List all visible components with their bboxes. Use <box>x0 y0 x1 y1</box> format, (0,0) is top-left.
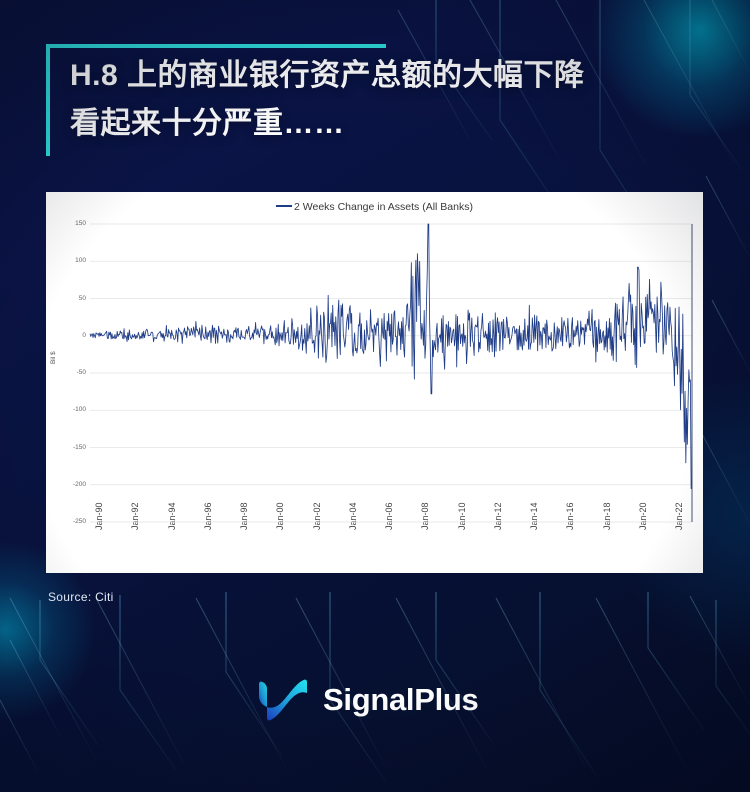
chart-plot-area <box>46 192 703 573</box>
headline-line-2: 看起来十分严重…… <box>70 100 706 148</box>
signalplus-wave-icon <box>255 678 311 722</box>
source-caption: Source: Citi <box>48 590 114 604</box>
brand-logo: SignalPlus <box>255 678 478 722</box>
headline-block: H.8 上的商业银行资产总额的大幅下降 看起来十分严重…… <box>46 44 706 148</box>
headline-line-1: H.8 上的商业银行资产总额的大幅下降 <box>70 52 706 100</box>
series-polyline <box>90 224 692 488</box>
chart-panel: 2 Weeks Change in Assets (All Banks) Bil… <box>46 192 703 573</box>
brand-name: SignalPlus <box>323 682 478 718</box>
poster-canvas: H.8 上的商业银行资产总额的大幅下降 看起来十分严重…… 2 Weeks Ch… <box>0 0 750 792</box>
